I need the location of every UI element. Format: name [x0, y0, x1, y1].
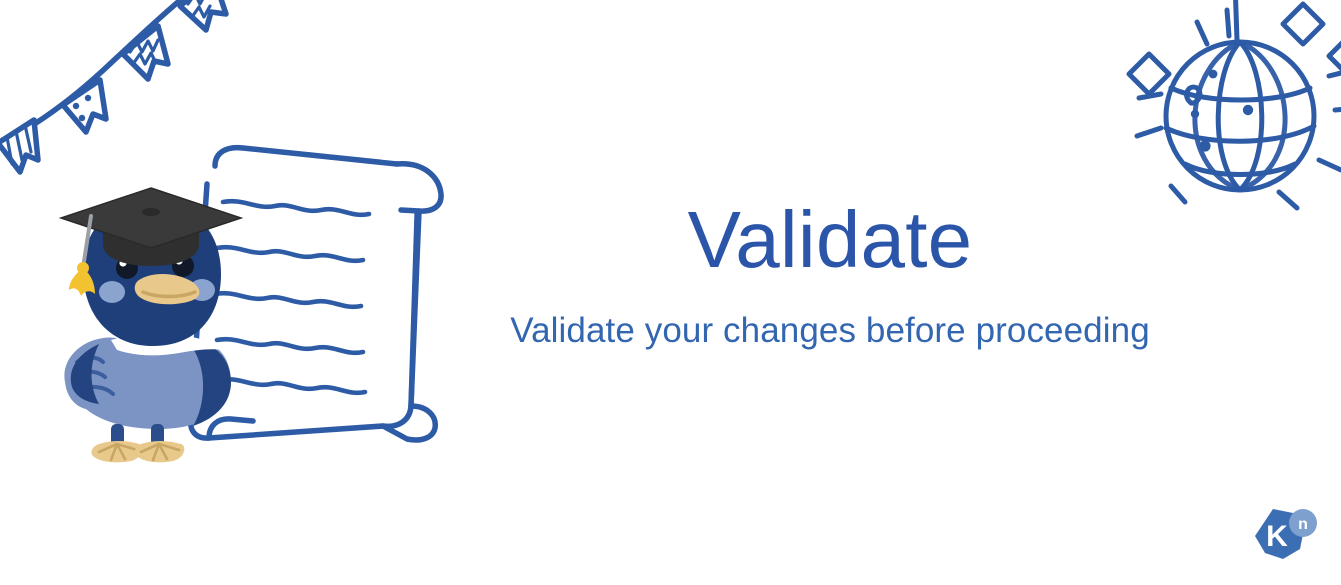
page-title: Validate	[440, 198, 1220, 282]
logo-letter-k: K	[1266, 520, 1288, 553]
graduate-bird-illustration	[55, 138, 465, 468]
bird-mascot-icon	[55, 186, 260, 466]
page-subtitle: Validate your changes before proceeding	[440, 282, 1220, 351]
heading-block: Validate Validate your changes before pr…	[440, 198, 1220, 351]
logo-letter-n: n	[1298, 516, 1308, 533]
killercoda-logo[interactable]: K n	[1247, 505, 1319, 571]
logo-icon: K n	[1247, 505, 1319, 571]
slide-canvas: Validate Validate your changes before pr…	[0, 0, 1341, 585]
